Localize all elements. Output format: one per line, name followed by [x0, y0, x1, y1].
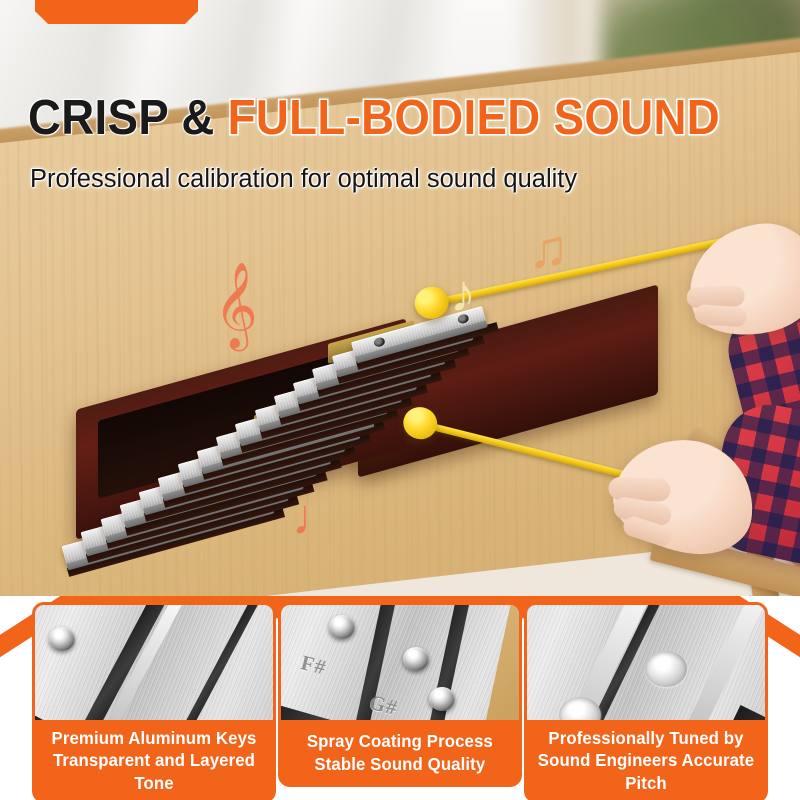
eighth-note-icon: ♪	[450, 268, 476, 320]
caption-line-2: Stable Sound Quality	[315, 754, 486, 774]
mounting-screw	[429, 687, 455, 711]
mounting-screw	[403, 647, 429, 671]
marketing-banner: 𝄞 ♫ ♪ ♩ CRISP & FULL-BODIED SOUND Profes…	[0, 0, 800, 800]
page-title: CRISP & FULL-BODIED SOUND	[28, 90, 679, 146]
headline-part-black: CRISP &	[28, 91, 228, 145]
feature-card-spray-coating-process[interactable]: F# G# A# Spray Coating Process Stable So…	[278, 602, 522, 787]
feature-card-professionally-tuned[interactable]: Professionally Tuned by Sound Engineers …	[524, 602, 768, 787]
top-accent-tab	[35, 0, 198, 24]
feature-caption-text: Spray Coating Process Stable Sound Quali…	[307, 730, 493, 775]
caption-line-1: Professionally Tuned by	[548, 728, 743, 748]
caption-line-2: Sound Engineers Accurate Pitch	[538, 750, 754, 792]
caption-line-1: Spray Coating Process	[307, 731, 493, 751]
screw-head	[645, 651, 687, 687]
page-subtitle: Professional calibration for optimal sou…	[30, 165, 750, 194]
feature-caption: Spray Coating Process Stable Sound Quali…	[278, 720, 522, 787]
feature-caption: Premium Aluminum Keys Transparent and La…	[32, 720, 276, 800]
caption-line-1: Premium Aluminum Keys	[52, 728, 257, 748]
mounting-screw	[49, 627, 75, 651]
mounting-screw	[329, 615, 355, 639]
feature-card-list: Premium Aluminum Keys Transparent and La…	[0, 596, 800, 800]
treble-clef-icon: 𝄞	[214, 268, 258, 342]
feature-caption-text: Premium Aluminum Keys Transparent and La…	[45, 727, 264, 794]
headline-part-orange: FULL-BODIED SOUND	[228, 91, 720, 145]
glockenspiel	[58, 214, 698, 594]
feature-caption: Professionally Tuned by Sound Engineers …	[524, 720, 768, 800]
feature-card-premium-aluminum-keys[interactable]: Premium Aluminum Keys Transparent and La…	[32, 602, 276, 787]
beamed-eighth-notes-icon: ♫	[528, 222, 569, 276]
feature-band: Premium Aluminum Keys Transparent and La…	[0, 596, 800, 800]
caption-line-2: Transparent and Layered Tone	[53, 750, 255, 792]
finger	[694, 304, 747, 328]
key-grommet	[373, 337, 386, 349]
quarter-note-icon: ♩	[292, 492, 342, 542]
feature-caption-text: Professionally Tuned by Sound Engineers …	[537, 727, 756, 794]
